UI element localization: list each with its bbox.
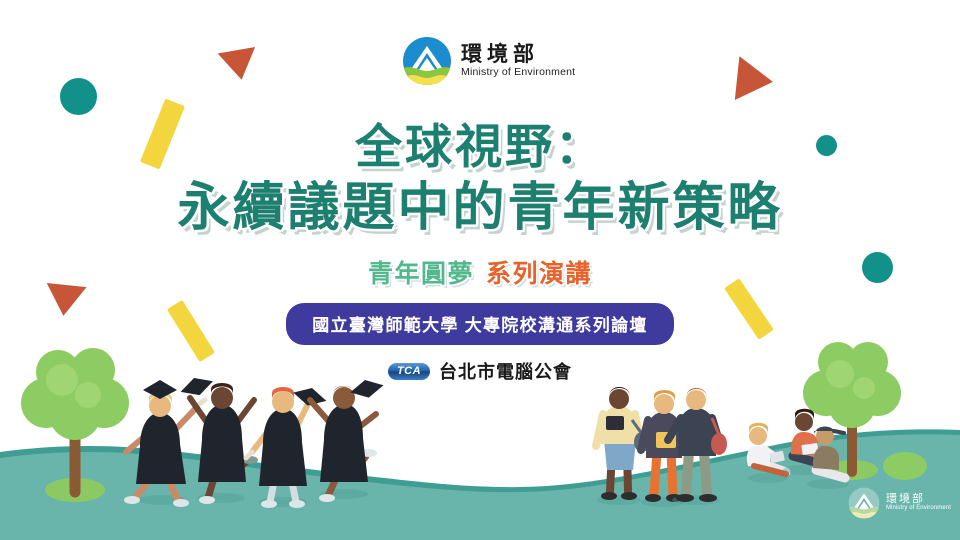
hill-ground (0, 434, 960, 540)
student-sitting-1 (747, 423, 788, 483)
student-standing-1 (596, 387, 650, 505)
ministry-of-environment-mark (402, 36, 452, 86)
student-standing-3 (668, 388, 727, 505)
graduate-2 (178, 373, 258, 504)
footer-ministry-logo: 環境部 Ministry of Environment (848, 487, 951, 519)
organizer-name: 台北市電腦公會 (439, 358, 572, 384)
presentation-slide: 環境部 Ministry of Environment 全球視野： 永續議題中的… (0, 0, 960, 540)
graduate-1 (124, 380, 205, 507)
footer-ministry-name-cn: 環境部 (886, 493, 951, 505)
student-sitting-3 (807, 427, 849, 490)
hill-edge (0, 429, 960, 540)
orange-triangle-top-left (218, 47, 261, 83)
title-line-1: 全球視野： (0, 118, 960, 175)
ministry-name-cn: 環境部 (461, 44, 575, 66)
student-sitting-2 (783, 409, 827, 475)
bush-right (883, 452, 927, 480)
subtitle-series-type: 系列演講 (486, 260, 592, 288)
graduate-3 (246, 384, 328, 508)
footer-ministry-name-en: Ministry of Environment (886, 505, 951, 512)
organizer-row: TCA 台北市電腦公會 (0, 358, 960, 384)
ministry-name-en: Ministry of Environment (461, 66, 575, 79)
subtitle-series-name: 青年圓夢 (368, 260, 474, 288)
ministry-of-environment-logo: 環境部 Ministry of Environment (402, 36, 575, 86)
event-banner-wrap: 國立臺灣師範大學 大專院校溝通系列論壇 (0, 303, 960, 345)
student-standing-2 (641, 390, 692, 507)
ministry-of-environment-mark-white (848, 487, 880, 519)
graduate-4 (310, 376, 385, 502)
event-banner: 國立臺灣師範大學 大專院校溝通系列論壇 (286, 303, 673, 345)
title-block: 全球視野： 永續議題中的青年新策略 (0, 118, 960, 241)
teal-circle-large-left (60, 78, 97, 115)
orange-triangle-right (735, 56, 775, 104)
title-line-2: 永續議題中的青年新策略 (0, 177, 960, 240)
tca-logo: TCA (388, 363, 430, 380)
subtitle: 青年圓夢系列演講 (0, 254, 960, 290)
